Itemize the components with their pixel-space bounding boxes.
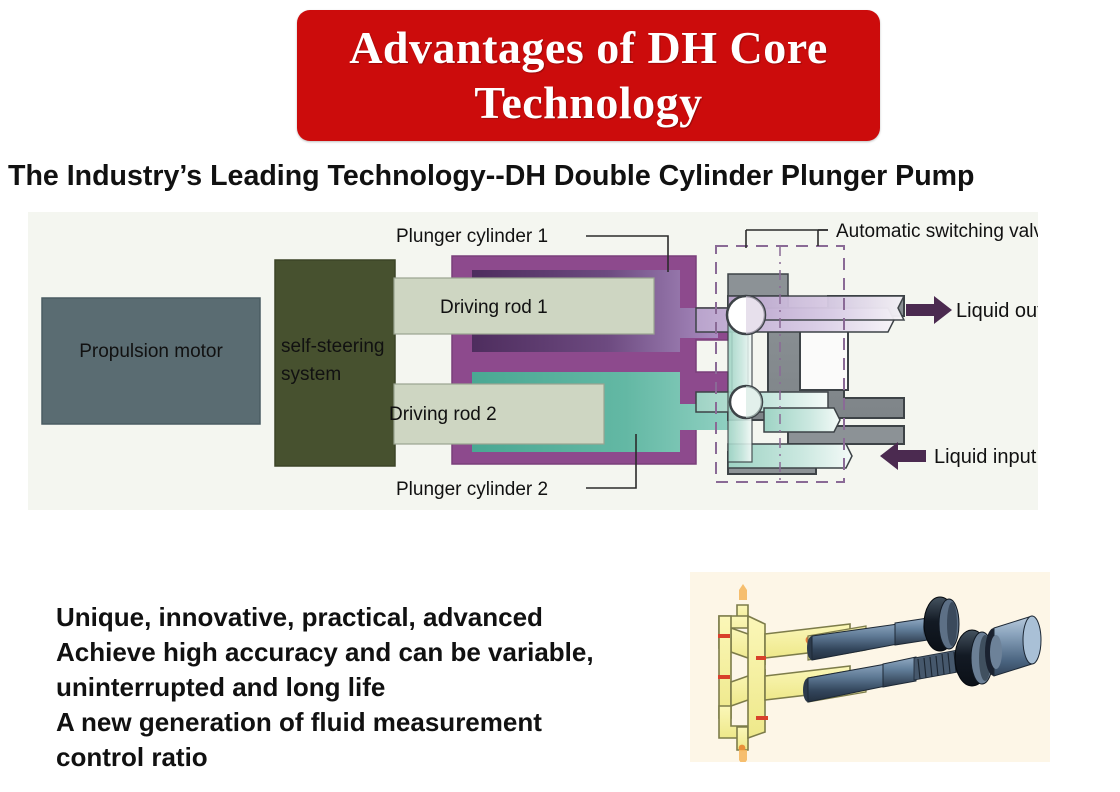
self-steering-label-line1: self-steering bbox=[281, 336, 385, 357]
liquid-output-indicator: Liquid output bbox=[906, 296, 1038, 324]
liquid-input-label: Liquid input bbox=[934, 446, 1037, 468]
subtitle-heading: The Industry’s Leading Technology--DH Do… bbox=[8, 160, 1095, 193]
driving-rod-1-label: Driving rod 1 bbox=[440, 297, 548, 318]
self-steering-system-block: self-steering system bbox=[275, 260, 395, 466]
driving-rod-2-label: Driving rod 2 bbox=[389, 404, 497, 425]
propulsion-motor-label: Propulsion motor bbox=[79, 341, 223, 362]
driving-rod-1-block: Driving rod 1 bbox=[394, 278, 654, 334]
propulsion-motor-block: Propulsion motor bbox=[42, 298, 260, 424]
liquid-input-indicator: Liquid input bbox=[880, 442, 1037, 470]
driving-rod-2-block: Driving rod 2 bbox=[389, 384, 604, 444]
lead-screw-part bbox=[914, 650, 958, 680]
plunger-cylinder-2-label: Plunger cylinder 2 bbox=[396, 479, 548, 500]
gear-1-part bbox=[924, 597, 959, 651]
right-arrow-icon bbox=[906, 296, 952, 324]
motor-part bbox=[985, 616, 1041, 676]
pump-schematic-diagram: Propulsion motor self-steering system Dr… bbox=[28, 212, 1038, 510]
plunger-cylinder-1-label: Plunger cylinder 1 bbox=[396, 226, 548, 247]
page-title: Advantages of DH Core Technology bbox=[297, 21, 880, 130]
features-text-block: Unique, innovative, practical, advanced … bbox=[56, 600, 666, 775]
self-steering-label-line2: system bbox=[281, 364, 341, 385]
plunger-rod-1-part bbox=[807, 618, 933, 660]
title-banner: Advantages of DH Core Technology bbox=[297, 10, 880, 141]
liquid-output-label: Liquid output bbox=[956, 300, 1038, 322]
pump-assembly-image bbox=[690, 572, 1050, 762]
automatic-switching-valve-label: Automatic switching valve bbox=[836, 221, 1038, 242]
left-arrow-icon bbox=[880, 442, 926, 470]
